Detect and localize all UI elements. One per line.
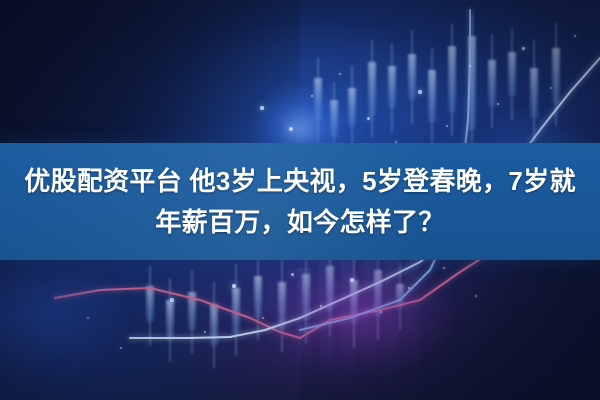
- headline-text-block: 优股配资平台 他3岁上央视，5岁登春晚，7岁就 年薪百万，如今怎样了？: [0, 143, 600, 260]
- promo-image-canvas: 优股配资平台 他3岁上央视，5岁登春晚，7岁就 年薪百万，如今怎样了？: [0, 0, 600, 400]
- headline-line-2: 年薪百万，如今怎样了？: [155, 202, 444, 243]
- headline-line-1: 优股配资平台 他3岁上央视，5岁登春晚，7岁就: [24, 161, 576, 202]
